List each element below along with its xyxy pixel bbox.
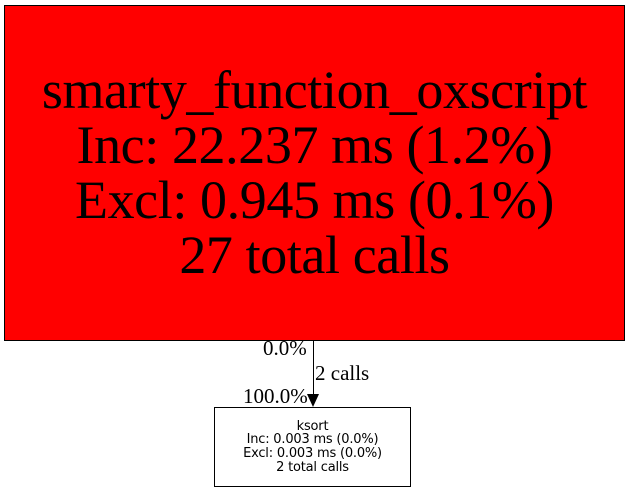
node-total-calls: 27 total calls <box>179 228 449 283</box>
node-exclusive-time: Excl: 0.003 ms (0.0%) <box>243 447 382 461</box>
node-inclusive-time: Inc: 22.237 ms (1.2%) <box>76 118 552 173</box>
graph-edge-line[interactable] <box>313 341 314 397</box>
node-title: ksort <box>297 420 329 434</box>
node-exclusive-time: Excl: 0.945 ms (0.1%) <box>75 173 554 228</box>
call-graph-canvas: smarty_function_oxscript Inc: 22.237 ms … <box>0 0 629 496</box>
graph-edge-arrowhead-icon <box>307 394 319 407</box>
edge-label-tail-percent: 0.0% <box>263 338 307 359</box>
edge-label-head-percent: 100.0% <box>243 386 308 407</box>
edge-label-calls: 2 calls <box>315 363 369 384</box>
graph-node-ksort[interactable]: ksort Inc: 0.003 ms (0.0%) Excl: 0.003 m… <box>214 407 411 487</box>
node-title: smarty_function_oxscript <box>42 63 587 118</box>
node-total-calls: 2 total calls <box>276 461 349 475</box>
graph-node-smarty-function-oxscript[interactable]: smarty_function_oxscript Inc: 22.237 ms … <box>4 5 625 341</box>
node-inclusive-time: Inc: 0.003 ms (0.0%) <box>247 433 379 447</box>
